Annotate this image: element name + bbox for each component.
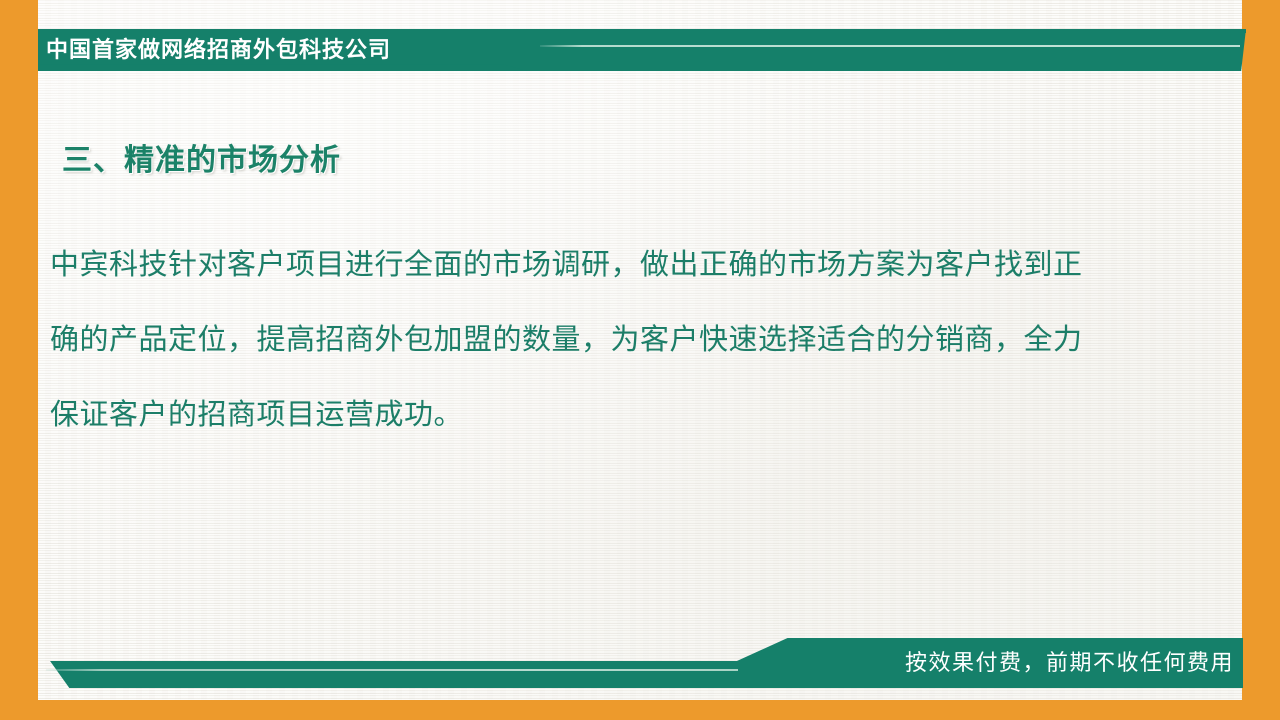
body-line: 确的产品定位，提高招商外包加盟的数量，为客户快速选择适合的分销商，全力 [50,303,1185,378]
presentation-slide: 中国首家做网络招商外包科技公司 三、精准的市场分析 中宾科技针对客户项目进行全面… [0,0,1280,720]
header-divider-line [540,45,1240,47]
body-paragraph: 中宾科技针对客户项目进行全面的市场调研，做出正确的市场方案为客户找到正 确的产品… [50,228,1185,453]
header-title: 中国首家做网络招商外包科技公司 [46,32,391,68]
footer-tagline: 按效果付费，前期不收任何费用 [905,645,1234,681]
section-heading: 三、精准的市场分析 [62,135,341,179]
body-line: 中宾科技针对客户项目进行全面的市场调研，做出正确的市场方案为客户找到正 [50,228,1185,303]
body-line: 保证客户的招商项目运营成功。 [50,378,1185,453]
footer-divider-line [46,669,738,671]
